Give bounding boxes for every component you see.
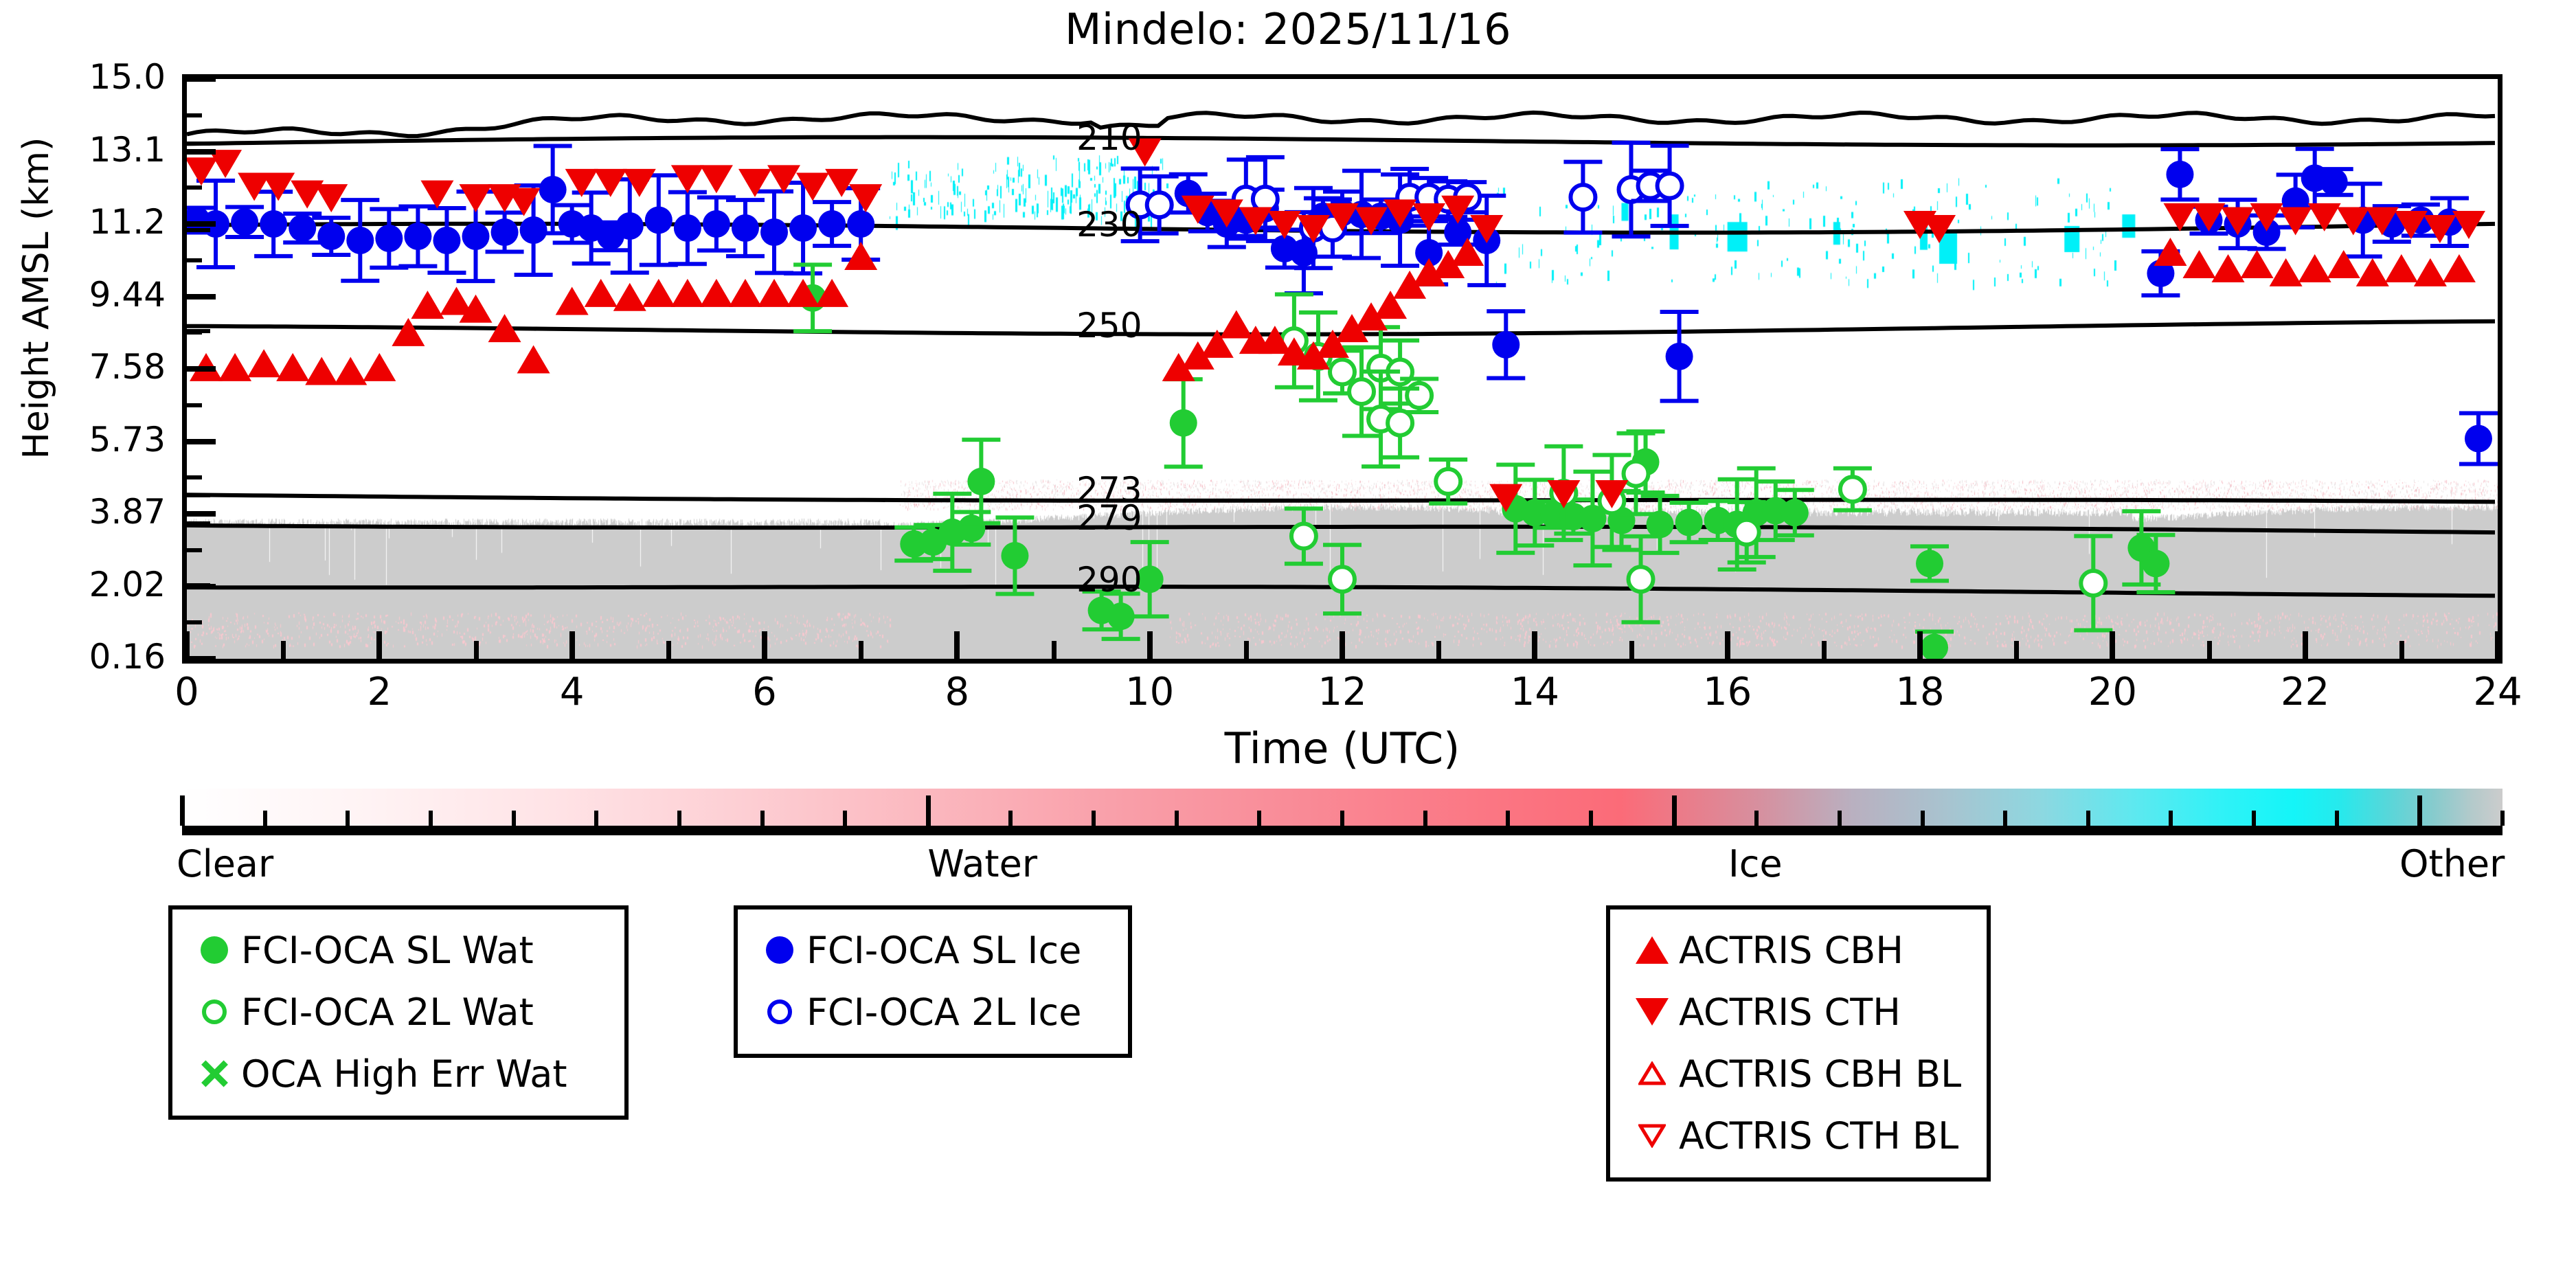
y-tick-mark xyxy=(187,76,216,82)
data-point xyxy=(260,210,287,238)
legend-item[interactable]: ACTRIS CTH BL xyxy=(1625,1105,1969,1166)
colorbar-tick xyxy=(1589,811,1593,826)
legend-label: ACTRIS CTH xyxy=(1679,991,1901,1034)
page-title: Mindelo: 2025/11/16 xyxy=(0,4,2576,54)
x-tick-mark xyxy=(1340,631,1345,659)
data-point xyxy=(967,468,995,495)
data-point xyxy=(1330,360,1355,385)
data-point xyxy=(1349,379,1374,404)
legend-label: FCI-OCA SL Wat xyxy=(241,929,534,972)
isotherm-label-290: 290 xyxy=(1076,563,1142,597)
data-point xyxy=(2081,571,2105,596)
isotherm-tick xyxy=(187,493,210,497)
series-fci-oca-2l-wat xyxy=(1275,295,2112,631)
colorbar-axis xyxy=(182,826,2502,835)
data-point xyxy=(2279,207,2312,235)
legend-label: ACTRIS CBH BL xyxy=(1679,1052,1961,1096)
y-tick-label: 7.58 xyxy=(0,347,166,387)
y-tick-label: 9.44 xyxy=(0,275,166,315)
data-point xyxy=(671,165,704,193)
data-point xyxy=(2327,250,2360,278)
y-tick-label: 11.2 xyxy=(0,202,166,242)
data-point xyxy=(1658,173,1682,198)
colorbar-label-clear: Clear xyxy=(177,842,273,885)
x-minor-tick xyxy=(2399,641,2404,659)
data-point xyxy=(2182,250,2215,278)
marker-shape xyxy=(767,999,792,1024)
colorbar-tick xyxy=(346,811,350,826)
data-point xyxy=(2465,425,2492,453)
x-tick-label: 2 xyxy=(317,670,441,714)
legend-marker-circle-open-icon xyxy=(753,985,806,1039)
data-point xyxy=(1170,409,1197,437)
data-point xyxy=(1107,602,1135,630)
data-point xyxy=(289,214,316,242)
data-point xyxy=(539,176,567,203)
x-minor-tick xyxy=(281,641,286,659)
x-tick-mark xyxy=(762,631,767,659)
data-point xyxy=(411,291,444,319)
x-tick-label: 16 xyxy=(1666,670,1789,714)
y-tick-mark xyxy=(187,366,216,372)
data-point xyxy=(1388,411,1412,436)
isotherm-tick xyxy=(187,521,210,526)
colorbar-tick xyxy=(1257,811,1261,826)
data-point xyxy=(317,223,345,250)
isotherm-tick xyxy=(187,583,210,587)
marker-shape xyxy=(766,936,793,964)
isotherm-tick xyxy=(187,329,210,333)
y-tick-mark xyxy=(187,439,216,444)
colorbar-tick xyxy=(2500,811,2505,826)
data-point xyxy=(1840,477,1865,501)
x-minor-tick xyxy=(1436,641,1441,659)
data-point xyxy=(2356,258,2389,286)
legend-item[interactable]: ACTRIS CTH xyxy=(1625,981,1969,1043)
legend-item[interactable]: ACTRIS CBH xyxy=(1625,919,1969,981)
colorbar-tick xyxy=(594,811,598,826)
data-point xyxy=(847,210,874,238)
water-legend: FCI-OCA SL WatFCI-OCA 2L WatOCA High Err… xyxy=(168,905,629,1120)
data-point xyxy=(767,165,800,193)
data-point xyxy=(2414,258,2447,286)
data-point xyxy=(818,210,846,238)
legend-marker-triangle-up-filled-icon xyxy=(1625,923,1679,977)
data-point xyxy=(1436,469,1460,494)
data-point xyxy=(363,353,396,381)
colorbar-tick xyxy=(677,811,681,826)
data-point xyxy=(491,218,519,246)
colorbar-tick xyxy=(2335,811,2339,826)
colorbar: ClearWaterIceOther xyxy=(182,789,2502,835)
data-point xyxy=(1291,524,1316,549)
data-point xyxy=(2166,161,2193,188)
x-tick-label: 8 xyxy=(895,670,1019,714)
data-point xyxy=(585,279,618,307)
colorbar-tick xyxy=(1092,811,1096,826)
data-point xyxy=(2298,254,2331,282)
colorbar-tick xyxy=(2417,795,2422,826)
colorbar-tick xyxy=(1754,811,1759,826)
data-point xyxy=(642,279,675,307)
data-point xyxy=(1492,331,1519,359)
legend-marker-circle-filled-icon xyxy=(753,923,806,977)
data-point xyxy=(305,357,338,385)
data-point xyxy=(1675,509,1703,536)
x-minor-tick xyxy=(1822,641,1827,659)
legend-marker-circle-open-icon xyxy=(188,985,241,1039)
colorbar-tick xyxy=(760,811,765,826)
x-tick-label: 18 xyxy=(1858,670,1982,714)
marker-shape xyxy=(199,1058,230,1089)
legend-label: FCI-OCA 2L Wat xyxy=(241,991,534,1034)
data-point xyxy=(674,214,701,242)
legend-item[interactable]: FCI-OCA SL Wat xyxy=(188,919,607,981)
y-tick-label: 15.0 xyxy=(0,57,166,97)
x-tick-mark xyxy=(569,631,575,659)
y-minor-tick xyxy=(187,258,202,262)
data-point xyxy=(1001,542,1028,569)
colorbar-tick xyxy=(843,811,847,826)
data-point xyxy=(462,223,490,250)
y-minor-tick xyxy=(187,113,202,117)
data-point xyxy=(1220,310,1253,338)
x-tick-label: 24 xyxy=(2436,670,2560,714)
x-tick-label: 6 xyxy=(703,670,826,714)
legend-marker-triangle-up-open-icon xyxy=(1625,1047,1679,1100)
data-point xyxy=(392,318,425,346)
legend-item[interactable]: FCI-OCA 2L Wat xyxy=(188,981,607,1043)
colorbar-label-ice: Ice xyxy=(1728,842,1783,885)
data-point xyxy=(433,227,460,254)
marker-shape xyxy=(1638,1061,1666,1086)
data-point xyxy=(375,225,403,252)
isotherm-tick xyxy=(187,142,210,146)
data-markers[interactable] xyxy=(187,79,2498,659)
x-minor-tick xyxy=(2207,641,2212,659)
data-point xyxy=(613,283,646,311)
legend-item[interactable]: OCA High Err Wat xyxy=(188,1043,607,1105)
data-point xyxy=(2212,254,2245,282)
data-point xyxy=(488,314,521,342)
x-tick-label: 10 xyxy=(1088,670,1212,714)
colorbar-tick xyxy=(512,811,516,826)
data-point xyxy=(1629,567,1653,591)
y-minor-tick xyxy=(187,185,202,190)
data-point xyxy=(1268,211,1301,239)
legend-marker-circle-filled-icon xyxy=(188,923,241,977)
data-point xyxy=(1923,215,1956,243)
data-point xyxy=(517,346,550,374)
colorbar-tick xyxy=(1506,811,1510,826)
data-point xyxy=(671,279,704,307)
legend-label: FCI-OCA SL Ice xyxy=(806,929,1081,972)
colorbar-tick xyxy=(1008,811,1013,826)
data-point xyxy=(218,353,251,381)
data-point xyxy=(732,214,759,242)
data-point xyxy=(1916,550,1943,577)
y-tick-mark xyxy=(187,221,216,227)
data-point xyxy=(1570,185,1595,210)
data-point xyxy=(758,279,791,307)
data-point xyxy=(346,227,374,254)
x-tick-mark xyxy=(2495,631,2500,659)
colorbar-tick xyxy=(1175,811,1179,826)
y-tick-label: 13.1 xyxy=(0,130,166,170)
x-minor-tick xyxy=(859,641,863,659)
legend-marker-cross-x-icon xyxy=(188,1047,241,1100)
y-minor-tick xyxy=(187,403,202,407)
colorbar-tick xyxy=(180,795,185,826)
data-point xyxy=(1735,520,1759,545)
isotherm-tick xyxy=(187,228,210,232)
x-tick-mark xyxy=(376,631,382,659)
y-tick-mark xyxy=(187,511,216,517)
colorbar-tick xyxy=(2252,811,2256,826)
data-point xyxy=(700,279,733,307)
y-tick-label: 5.73 xyxy=(0,420,166,460)
colorbar-tick xyxy=(1921,811,1925,826)
y-tick-mark xyxy=(187,294,216,300)
x-tick-mark xyxy=(1147,631,1153,659)
data-point xyxy=(616,212,644,240)
colorbar-tick xyxy=(1838,811,1842,826)
x-tick-mark xyxy=(2110,631,2115,659)
legend-marker-triangle-down-filled-icon xyxy=(1625,985,1679,1039)
marker-shape xyxy=(202,999,227,1024)
marker-shape xyxy=(1638,1123,1666,1148)
y-tick-mark xyxy=(187,656,216,662)
marker-shape xyxy=(201,936,228,964)
data-point xyxy=(1921,634,1948,659)
x-tick-label: 4 xyxy=(510,670,634,714)
y-tick-mark xyxy=(187,149,216,155)
y-minor-tick xyxy=(187,548,202,552)
data-point xyxy=(2142,550,2169,577)
colorbar-label-water: Water xyxy=(927,842,1037,885)
x-minor-tick xyxy=(1244,641,1249,659)
data-point xyxy=(1666,343,1693,370)
x-tick-mark xyxy=(1917,631,1923,659)
x-tick-label: 0 xyxy=(125,670,249,714)
data-point xyxy=(760,218,788,246)
marker-shape xyxy=(1636,936,1669,964)
data-point xyxy=(276,353,309,381)
ice-legend: FCI-OCA SL IceFCI-OCA 2L Ice xyxy=(734,905,1132,1058)
series-fci-oca-sl-wat xyxy=(793,264,2175,659)
data-point xyxy=(1781,499,1809,526)
legend-label: ACTRIS CBH xyxy=(1679,929,1903,972)
colorbar-tick xyxy=(2086,811,2090,826)
data-point xyxy=(2241,250,2274,278)
x-tick-mark xyxy=(1532,631,1537,659)
data-point xyxy=(729,279,762,307)
data-point xyxy=(231,208,258,236)
legend-label: FCI-OCA 2L Ice xyxy=(806,991,1081,1034)
legend-marker-triangle-down-open-icon xyxy=(1625,1109,1679,1162)
data-point xyxy=(1624,462,1649,486)
data-point xyxy=(556,286,589,315)
data-point xyxy=(849,184,882,212)
data-point xyxy=(520,216,547,244)
legend-item[interactable]: FCI-OCA 2L Ice xyxy=(753,981,1110,1043)
data-point xyxy=(2163,203,2196,231)
data-point xyxy=(1147,192,1172,217)
x-tick-label: 20 xyxy=(2050,670,2174,714)
plot-canvas xyxy=(187,79,2498,659)
data-point xyxy=(825,169,858,197)
data-point xyxy=(2385,254,2418,282)
colorbar-tick xyxy=(2169,811,2173,826)
x-minor-tick xyxy=(666,641,671,659)
data-point xyxy=(420,181,453,209)
data-point xyxy=(2320,168,2348,196)
legend-label: OCA High Err Wat xyxy=(241,1052,567,1096)
marker-shape xyxy=(1636,998,1669,1026)
x-minor-tick xyxy=(474,641,479,659)
colorbar-tick xyxy=(926,795,931,826)
isotherm-label-230: 230 xyxy=(1076,207,1142,242)
colorbar-tick xyxy=(1340,811,1344,826)
colorbar-tick xyxy=(2003,811,2007,826)
data-point xyxy=(700,165,733,193)
colorbar-tick xyxy=(429,811,433,826)
colorbar-label-other: Other xyxy=(2399,842,2505,885)
legend-item[interactable]: FCI-OCA SL Ice xyxy=(753,919,1110,981)
x-minor-tick xyxy=(1629,641,1634,659)
x-tick-label: 22 xyxy=(2244,670,2367,714)
isotherm-label-210: 210 xyxy=(1076,121,1142,155)
actris-legend: ACTRIS CBHACTRIS CTHACTRIS CBH BLACTRIS … xyxy=(1606,905,1991,1182)
data-point xyxy=(645,206,673,234)
y-tick-label: 3.87 xyxy=(0,492,166,532)
y-minor-tick xyxy=(187,620,202,624)
x-tick-mark xyxy=(184,631,190,659)
data-point xyxy=(789,214,817,242)
y-minor-tick xyxy=(187,475,202,479)
x-minor-tick xyxy=(1052,641,1057,659)
x-minor-tick xyxy=(2014,641,2019,659)
data-point xyxy=(334,357,367,385)
data-point xyxy=(2443,254,2476,282)
series-actris-cth xyxy=(187,139,2485,512)
legend-item[interactable]: ACTRIS CBH BL xyxy=(1625,1043,1969,1105)
data-point xyxy=(262,172,295,201)
data-point xyxy=(703,210,730,238)
colorbar-tick xyxy=(1672,795,1677,826)
x-tick-mark xyxy=(954,631,960,659)
y-tick-label: 2.02 xyxy=(0,565,166,605)
data-point xyxy=(404,223,431,250)
x-tick-mark xyxy=(2303,631,2308,659)
data-point xyxy=(1330,567,1355,591)
x-axis-title: Time (UTC) xyxy=(182,723,2502,773)
plot-area[interactable] xyxy=(182,74,2502,664)
isotherm-label-250: 250 xyxy=(1076,308,1142,343)
isotherm-label-279: 279 xyxy=(1076,501,1142,535)
x-tick-mark xyxy=(1725,631,1730,659)
colorbar-tick xyxy=(263,811,267,826)
legend-label: ACTRIS CTH BL xyxy=(1679,1114,1958,1157)
colorbar-tick xyxy=(1423,811,1427,826)
data-point xyxy=(247,349,280,377)
data-point xyxy=(2270,258,2303,286)
x-tick-label: 12 xyxy=(1280,670,1404,714)
x-tick-label: 14 xyxy=(1473,670,1596,714)
